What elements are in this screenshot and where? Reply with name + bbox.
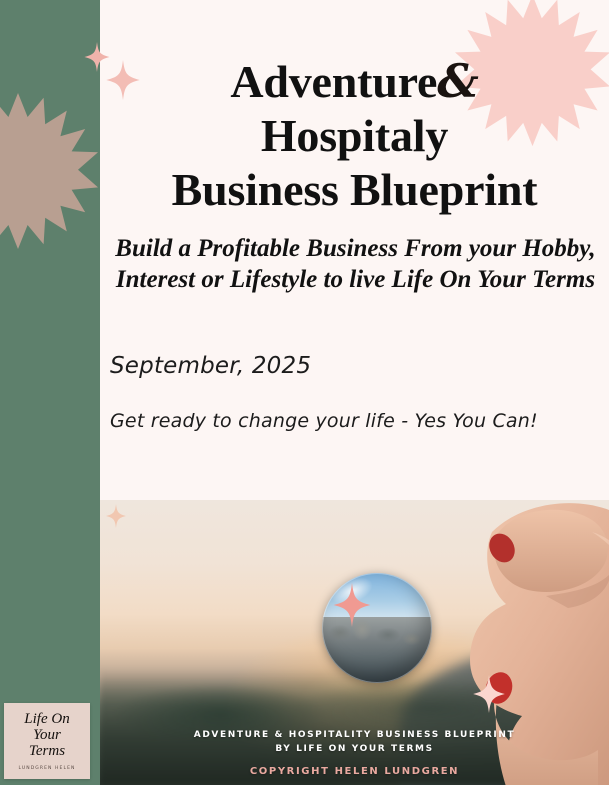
brand-logo-badge: Life On Your Terms LUNDGREN HELEN <box>4 703 90 779</box>
logo-subtext: LUNDGREN HELEN <box>18 766 75 771</box>
title-word-adventure: Adventure <box>230 56 437 107</box>
footer-title-text: ADVENTURE & HOSPITALITY BUSINESS BLUEPRI… <box>100 728 609 756</box>
sparkle-star-icon <box>472 675 506 713</box>
sparkle-star-icon <box>105 504 127 528</box>
cover-tagline: Get ready to change your life - Yes You … <box>110 410 538 432</box>
sparkle-star-icon <box>106 60 140 100</box>
sparkle-star-icon <box>332 583 372 627</box>
cover-subtitle: Build a Profitable Business From your Ho… <box>112 233 599 295</box>
logo-line-2: Your <box>33 727 61 743</box>
title-line-1: Adventure& <box>100 54 609 109</box>
title-line-3: Business Blueprint <box>100 163 609 217</box>
footer-line-1: ADVENTURE & HOSPITALITY BUSINESS BLUEPRI… <box>100 728 609 742</box>
document-cover-page: Adventure& Hospitaly Business Blueprint … <box>0 0 609 785</box>
footer-copyright: COPYRIGHT HELEN LUNDGREN <box>100 766 609 777</box>
title-ampersand: & <box>437 54 478 108</box>
logo-line-1: Life On <box>24 711 69 727</box>
taupe-starburst-decoration <box>0 93 98 253</box>
logo-line-3: Terms <box>29 743 65 759</box>
title-line-2: Hospitaly <box>100 109 609 163</box>
cover-date: September, 2025 <box>110 353 311 379</box>
footer-line-2: BY LIFE ON YOUR TERMS <box>100 742 609 756</box>
cover-title: Adventure& Hospitaly Business Blueprint <box>100 54 609 217</box>
